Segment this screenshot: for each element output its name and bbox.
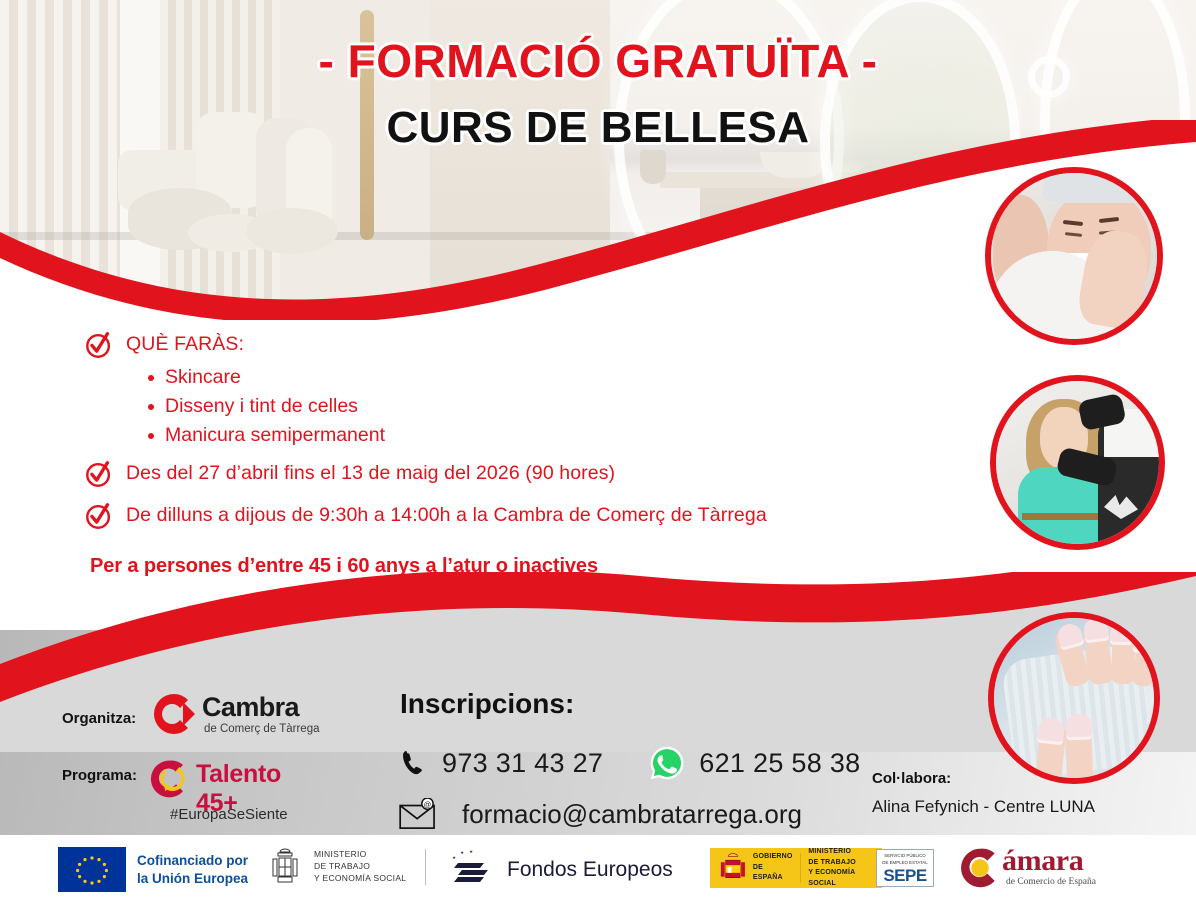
programa-label: Programa:: [62, 767, 137, 784]
sepe-line-1: SERVICIO PÚBLICO: [877, 853, 933, 860]
list-item: Skincare: [148, 366, 904, 389]
inscriptions-heading: Inscripcions:: [400, 688, 574, 720]
detail-row-que-faras: QUÈ FARÀS:: [84, 332, 904, 360]
eu-line-2: la Unión Europea: [137, 870, 248, 887]
ministerio-line-1: MINISTERIO: [314, 848, 406, 860]
course-modules-list: Skincare Disseny i tint de celles Manicu…: [148, 366, 904, 447]
check-circle-icon: [84, 459, 114, 489]
sepe-acronym: SEPE: [877, 866, 933, 886]
camara-mark-icon: [958, 846, 1002, 890]
eligibility-highlight: Per a persones d’entre 45 i 60 anys a l’…: [90, 555, 904, 578]
ministerio-line-3: Y ECONOMÍA SOCIAL: [314, 872, 406, 884]
course-details: QUÈ FARÀS: Skincare Disseny i tint de ce…: [84, 332, 904, 578]
camara-name: ámara: [1002, 844, 1083, 878]
email-address[interactable]: formacio@cambratarrega.org: [462, 799, 802, 830]
phone-number[interactable]: 973 31 43 27: [442, 748, 603, 779]
module-label: Manicura semipermanent: [165, 424, 385, 447]
bullet-dot-icon: [148, 404, 154, 410]
sepe-logo: SERVICIO PÚBLICO DE EMPLEO ESTATAL SEPE: [876, 849, 934, 887]
gobierno-text: GOBIERNO DE ESPAÑA: [753, 852, 794, 884]
skincare-photo: [985, 167, 1163, 345]
title-block: - FORMACIÓ GRATUÏTA - CURS DE BELLESA: [0, 38, 1196, 153]
whatsapp-icon[interactable]: [649, 745, 685, 781]
poster-root: - FORMACIÓ GRATUÏTA - CURS DE BELLESA QU…: [0, 0, 1196, 897]
talento-mark-icon: [148, 758, 190, 800]
module-label: Skincare: [165, 366, 241, 389]
detail-label-dates: Des del 27 d’abril fins el 13 de maig de…: [126, 461, 615, 485]
eu-flag-icon: [58, 847, 126, 892]
cambra-mark-icon: [150, 690, 198, 738]
nails-photo: [988, 612, 1160, 784]
collabora-value: Alina Fefynich - Centre LUNA: [872, 797, 1095, 817]
sepe-line-2: DE EMPLEO ESTATAL: [877, 860, 933, 867]
eu-line-1: Cofinanciado por: [137, 852, 248, 869]
gobierno-espana-logo: GOBIERNO DE ESPAÑA MINISTERIO DE TRABAJO…: [710, 848, 882, 888]
bullet-dot-icon: [148, 433, 154, 439]
gob-ministerio-line-1: MINISTERIO: [808, 847, 882, 858]
organitza-label: Organitza:: [62, 710, 136, 727]
detail-label-que-faras: QUÈ FARÀS:: [126, 332, 244, 356]
logo-divider: [425, 849, 426, 885]
spain-coat-of-arms-icon: [265, 846, 305, 886]
detail-row-dates: Des del 27 d’abril fins el 13 de maig de…: [84, 461, 904, 489]
fondos-europeos-logo: Fondos Europeos: [448, 849, 673, 891]
phone-contact-row: 973 31 43 27 621 25 58 38: [398, 745, 861, 781]
bullet-dot-icon: [148, 375, 154, 381]
eu-cofinanced-logo: Cofinanciado por la Unión Europea: [58, 847, 248, 892]
gobierno-ministerio-text: MINISTERIO DE TRABAJO Y ECONOMÍA SOCIAL: [808, 847, 882, 889]
detail-label-schedule: De dilluns a dijous de 9:30h a 14:00h a …: [126, 503, 767, 527]
ministerio-line-2: DE TRABAJO: [314, 860, 406, 872]
ministerio-text: MINISTERIO DE TRABAJO Y ECONOMÍA SOCIAL: [314, 848, 406, 885]
gobierno-line-2: DE ESPAÑA: [753, 863, 794, 884]
gob-ministerio-line-2: DE TRABAJO: [808, 858, 882, 869]
gobierno-line-1: GOBIERNO: [753, 852, 794, 863]
eu-cofinanced-text: Cofinanciado por la Unión Europea: [137, 852, 248, 887]
check-circle-icon: [84, 330, 114, 360]
camara-espana-logo: ámara de Comercio de España: [958, 846, 1138, 890]
detail-row-schedule: De dilluns a dijous de 9:30h a 14:00h a …: [84, 503, 904, 531]
check-circle-icon: [84, 501, 114, 531]
ministerio-logo: MINISTERIO DE TRABAJO Y ECONOMÍA SOCIAL: [265, 846, 406, 886]
talento-logo: Talento 45+: [148, 758, 328, 800]
whatsapp-number[interactable]: 621 25 58 38: [699, 748, 860, 779]
email-contact-row: @ formacio@cambratarrega.org: [398, 798, 802, 830]
eyebrow-photo: [990, 375, 1165, 550]
list-item: Disseny i tint de celles: [148, 395, 904, 418]
fondos-europeos-mark-icon: [448, 849, 498, 891]
gob-ministerio-line-3: Y ECONOMÍA SOCIAL: [808, 868, 882, 889]
collabora-label: Col·labora:: [872, 770, 951, 787]
page-subtitle: CURS DE BELLESA: [0, 103, 1196, 153]
page-title: - FORMACIÓ GRATUÏTA -: [0, 38, 1196, 85]
cambra-logo: Cambra de Comerç de Tàrrega: [150, 690, 320, 742]
gobierno-shield-icon: [718, 851, 747, 885]
cambra-name: Cambra: [202, 692, 299, 723]
list-item: Manicura semipermanent: [148, 424, 904, 447]
module-label: Disseny i tint de celles: [165, 395, 358, 418]
cambra-subtitle: de Comerç de Tàrrega: [204, 723, 319, 735]
fondos-europeos-text: Fondos Europeos: [507, 858, 673, 882]
camara-subtitle: de Comercio de España: [1006, 877, 1096, 887]
phone-icon: [398, 747, 428, 779]
svg-text:@: @: [424, 800, 432, 809]
gobierno-divider: [800, 853, 801, 883]
hashtag-label: #EuropaSeSiente: [170, 806, 288, 823]
email-icon: @: [398, 798, 440, 830]
institutional-logo-bar: Cofinanciado por la Unión Europea MINIST…: [0, 835, 1196, 897]
